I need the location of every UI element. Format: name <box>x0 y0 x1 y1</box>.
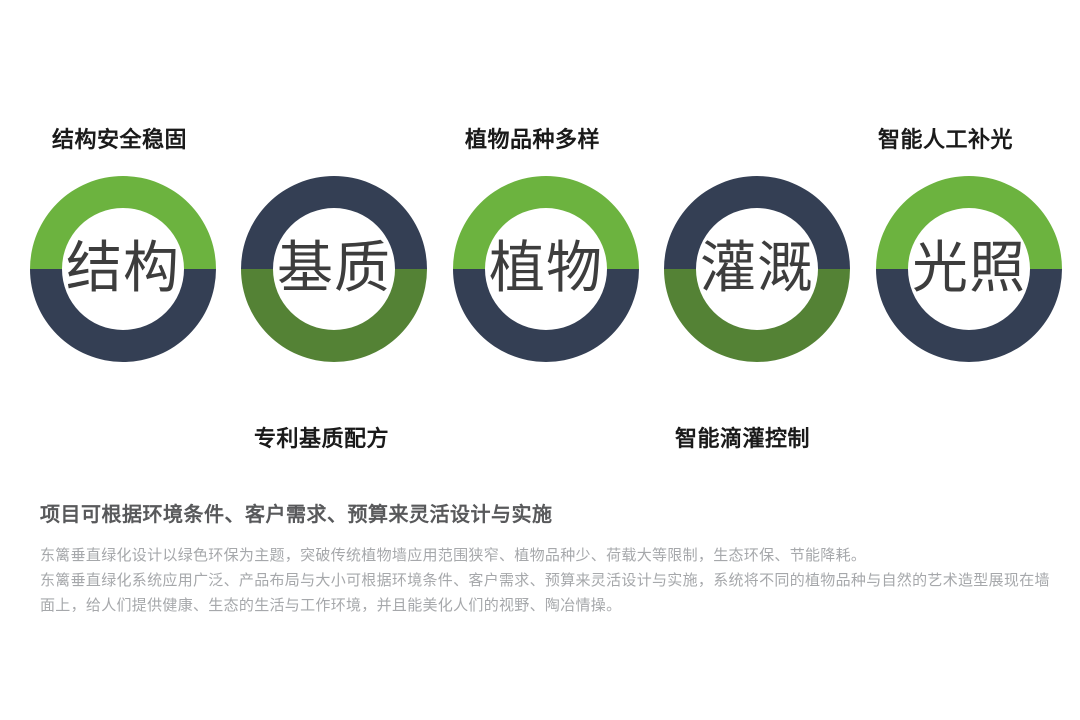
infographic-canvas: 结构 基质 植物 灌溉 <box>0 0 1080 720</box>
description-paragraph-1: 东篱垂直绿化设计以绿色环保为主题，突破传统植物墙应用范围狭窄、植物品种少、荷载大… <box>40 543 1050 568</box>
callout-structure-safe: 结构安全稳固 <box>52 122 187 154</box>
ring-item-5[interactable]: 光照 <box>860 160 1078 378</box>
ring-item-1[interactable]: 结构 <box>14 160 232 378</box>
ring-3-center-label: 植物 <box>437 160 655 378</box>
callout-patent-substrate: 专利基质配方 <box>254 421 389 453</box>
ring-5-center-label: 光照 <box>860 160 1078 378</box>
ring-item-2[interactable]: 基质 <box>225 160 443 378</box>
description-block: 项目可根据环境条件、客户需求、预算来灵活设计与实施 东篱垂直绿化设计以绿色环保为… <box>40 498 1050 618</box>
description-paragraph-2: 东篱垂直绿化系统应用广泛、产品布局与大小可根据环境条件、客户需求、预算来灵活设计… <box>40 568 1050 618</box>
ring-2-center-label: 基质 <box>225 160 443 378</box>
ring-4-center-label: 灌溉 <box>648 160 866 378</box>
callout-smart-lighting: 智能人工补光 <box>878 122 1013 154</box>
callout-plant-variety: 植物品种多样 <box>465 122 600 154</box>
ring-1-center-label: 结构 <box>14 160 232 378</box>
callout-smart-irrigation: 智能滴灌控制 <box>675 421 810 453</box>
description-heading: 项目可根据环境条件、客户需求、预算来灵活设计与实施 <box>40 498 1050 527</box>
ring-item-3[interactable]: 植物 <box>437 160 655 378</box>
ring-item-4[interactable]: 灌溉 <box>648 160 866 378</box>
